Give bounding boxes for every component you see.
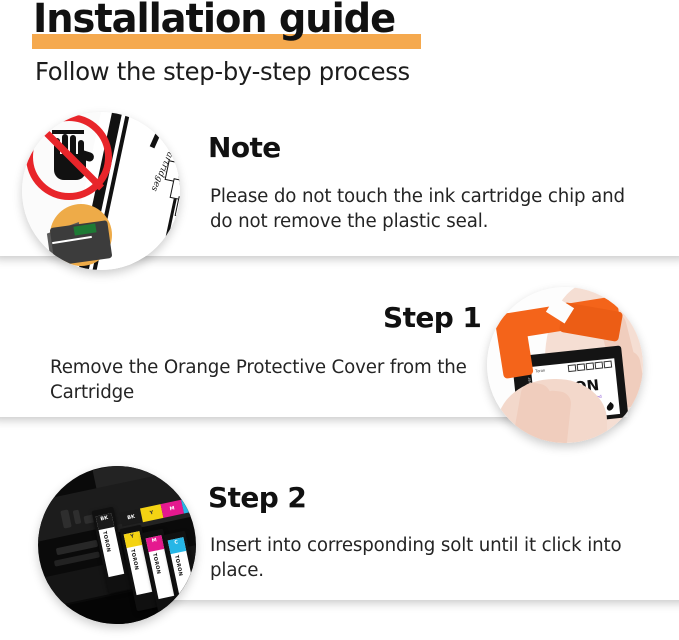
label-icon — [586, 362, 595, 370]
page-header: Installation guide Follow the step-by-st… — [0, 0, 679, 100]
label-icon — [595, 361, 604, 369]
page-subtitle: Follow the step-by-step process — [35, 57, 410, 86]
do-not-touch-chip-photo: XL m ink cartridges — [22, 112, 180, 270]
label-icon — [568, 364, 577, 372]
step1-heading: Step 1 — [383, 301, 481, 334]
note-heading: Note — [208, 131, 281, 164]
insert-cartridge-into-printer-photo: BK Y M C BK TORON Y TORON M TORON C T — [38, 466, 196, 624]
page-title: Installation guide — [33, 0, 395, 43]
cartridge-top-code: Toron — [535, 368, 545, 374]
cartridge-icon-row — [568, 361, 612, 373]
installation-guide-page: Installation guide Follow the step-by-st… — [0, 0, 679, 640]
label-icon — [604, 361, 613, 369]
label-icon — [577, 363, 586, 371]
step1-body-text: Remove the Orange Protective Cover from … — [50, 355, 493, 405]
finger — [536, 390, 572, 443]
slot-label-c: C — [181, 495, 196, 513]
note-body-text: Please do not touch the ink cartridge ch… — [210, 184, 634, 234]
ink-drop-icon — [605, 402, 615, 412]
step2-body-text: Insert into corresponding solt until it … — [210, 533, 643, 583]
step2-heading: Step 2 — [208, 481, 306, 514]
remove-orange-cover-photo: protective cover Toron TOON trusted. Tru… — [487, 287, 643, 443]
